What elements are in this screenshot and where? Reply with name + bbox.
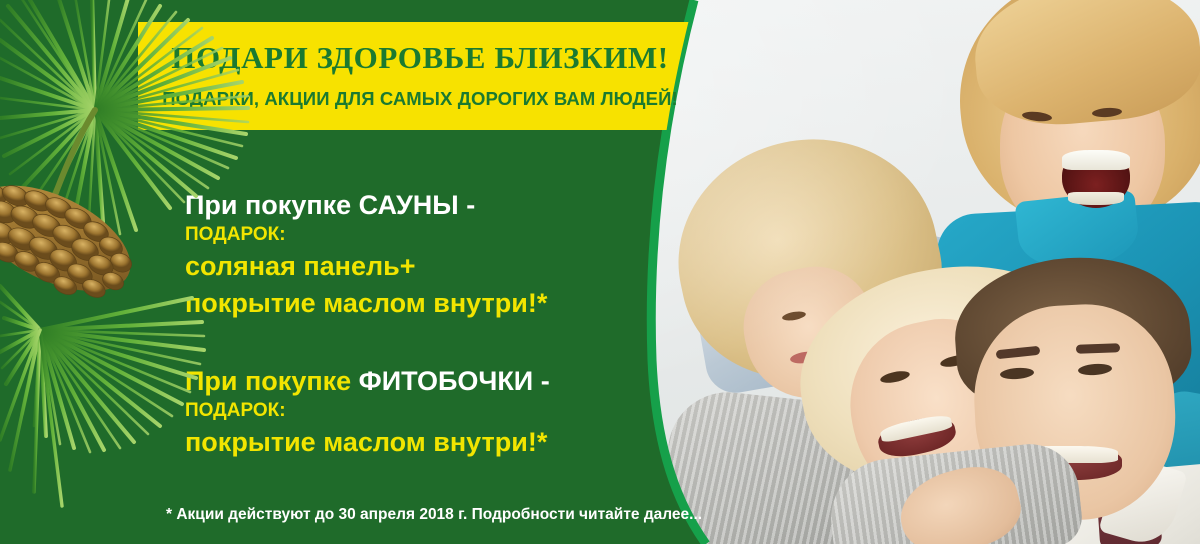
subheadline: ПОДАРКИ, АКЦИИ ДЛЯ САМЫХ ДОРОГИХ ВАМ ЛЮД… (150, 88, 690, 110)
offer-phytobarrel: При покупке ФИТОБОЧКИ - ПОДАРОК: покрыти… (185, 366, 655, 460)
footnote: * Акции действуют до 30 апреля 2018 г. П… (166, 506, 702, 524)
offer-title: При покупке САУНЫ - (185, 190, 655, 221)
offer-gift-line: соляная панель+ (185, 249, 655, 284)
offers-list: При покупке САУНЫ - ПОДАРОК: соляная пан… (185, 190, 655, 460)
offer-title-suffix: - (533, 366, 550, 396)
offer-title-product: САУНЫ (359, 190, 459, 220)
offer-gift-label: ПОДАРОК: (185, 223, 655, 247)
offer-gift-label: ПОДАРОК: (185, 399, 655, 423)
offer-title-prefix: При покупке (185, 366, 359, 396)
offer-title-suffix: - (459, 190, 476, 220)
offer-sauna: При покупке САУНЫ - ПОДАРОК: соляная пан… (185, 190, 655, 320)
offer-title-prefix: При покупке (185, 190, 359, 220)
offer-title-product: ФИТОБОЧКИ (359, 366, 534, 396)
promo-banner: ПОДАРИ ЗДОРОВЬЕ БЛИЗКИМ! ПОДАРКИ, АКЦИИ … (0, 0, 1200, 544)
man-right-eyebrow (1076, 343, 1120, 354)
headline: ПОДАРИ ЗДОРОВЬЕ БЛИЗКИМ! (150, 40, 690, 76)
offer-gift-line: покрытие маслом внутри!* (185, 425, 655, 460)
offer-gift-line: покрытие маслом внутри!* (185, 286, 655, 321)
offer-title: При покупке ФИТОБОЧКИ - (185, 366, 655, 397)
boy-lower-teeth (1068, 192, 1124, 205)
boy-upper-teeth (1062, 150, 1130, 170)
